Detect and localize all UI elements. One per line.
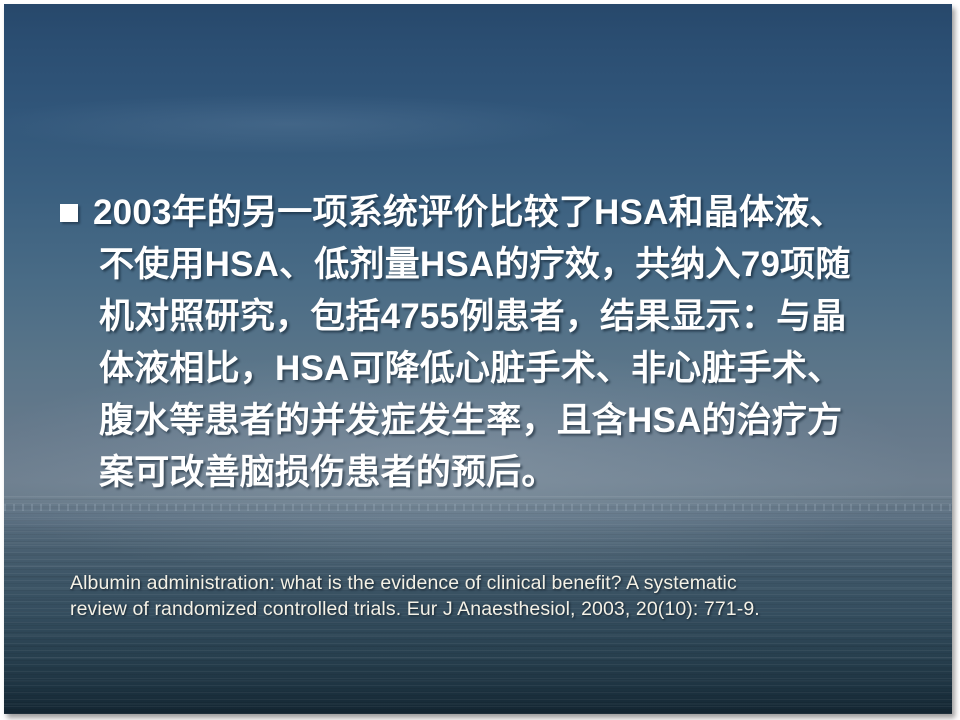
citation-line-2: review of randomized controlled trials. … [70,596,930,622]
bullet-line-1: 2003年的另一项系统评价比较了HSA和晶体液、 [60,187,940,239]
bullet-line-6: 案可改善脑损伤患者的预后。 [60,447,952,499]
bullet-line-5: 腹水等患者的并发症发生率，且含HSA的治疗方 [60,395,952,447]
bullet-line-3: 机对照研究，包括4755例患者，结果显示：与晶 [60,291,952,343]
citation-block: Albumin administration: what is the evid… [70,570,930,622]
citation-line-1: Albumin administration: what is the evid… [70,570,930,596]
slide: 2003年的另一项系统评价比较了HSA和晶体液、 不使用HSA、低剂量HSA的疗… [0,0,960,720]
bullet-line-2: 不使用HSA、低剂量HSA的疗效，共纳入79项随 [60,239,952,291]
slide-canvas: 2003年的另一项系统评价比较了HSA和晶体液、 不使用HSA、低剂量HSA的疗… [4,4,952,714]
bullet-line-1-text: 2003年的另一项系统评价比较了HSA和晶体液、 [93,187,845,239]
bullet-line-4: 体液相比，HSA可降低心脏手术、非心脏手术、 [60,343,952,395]
square-bullet-icon [60,204,78,222]
